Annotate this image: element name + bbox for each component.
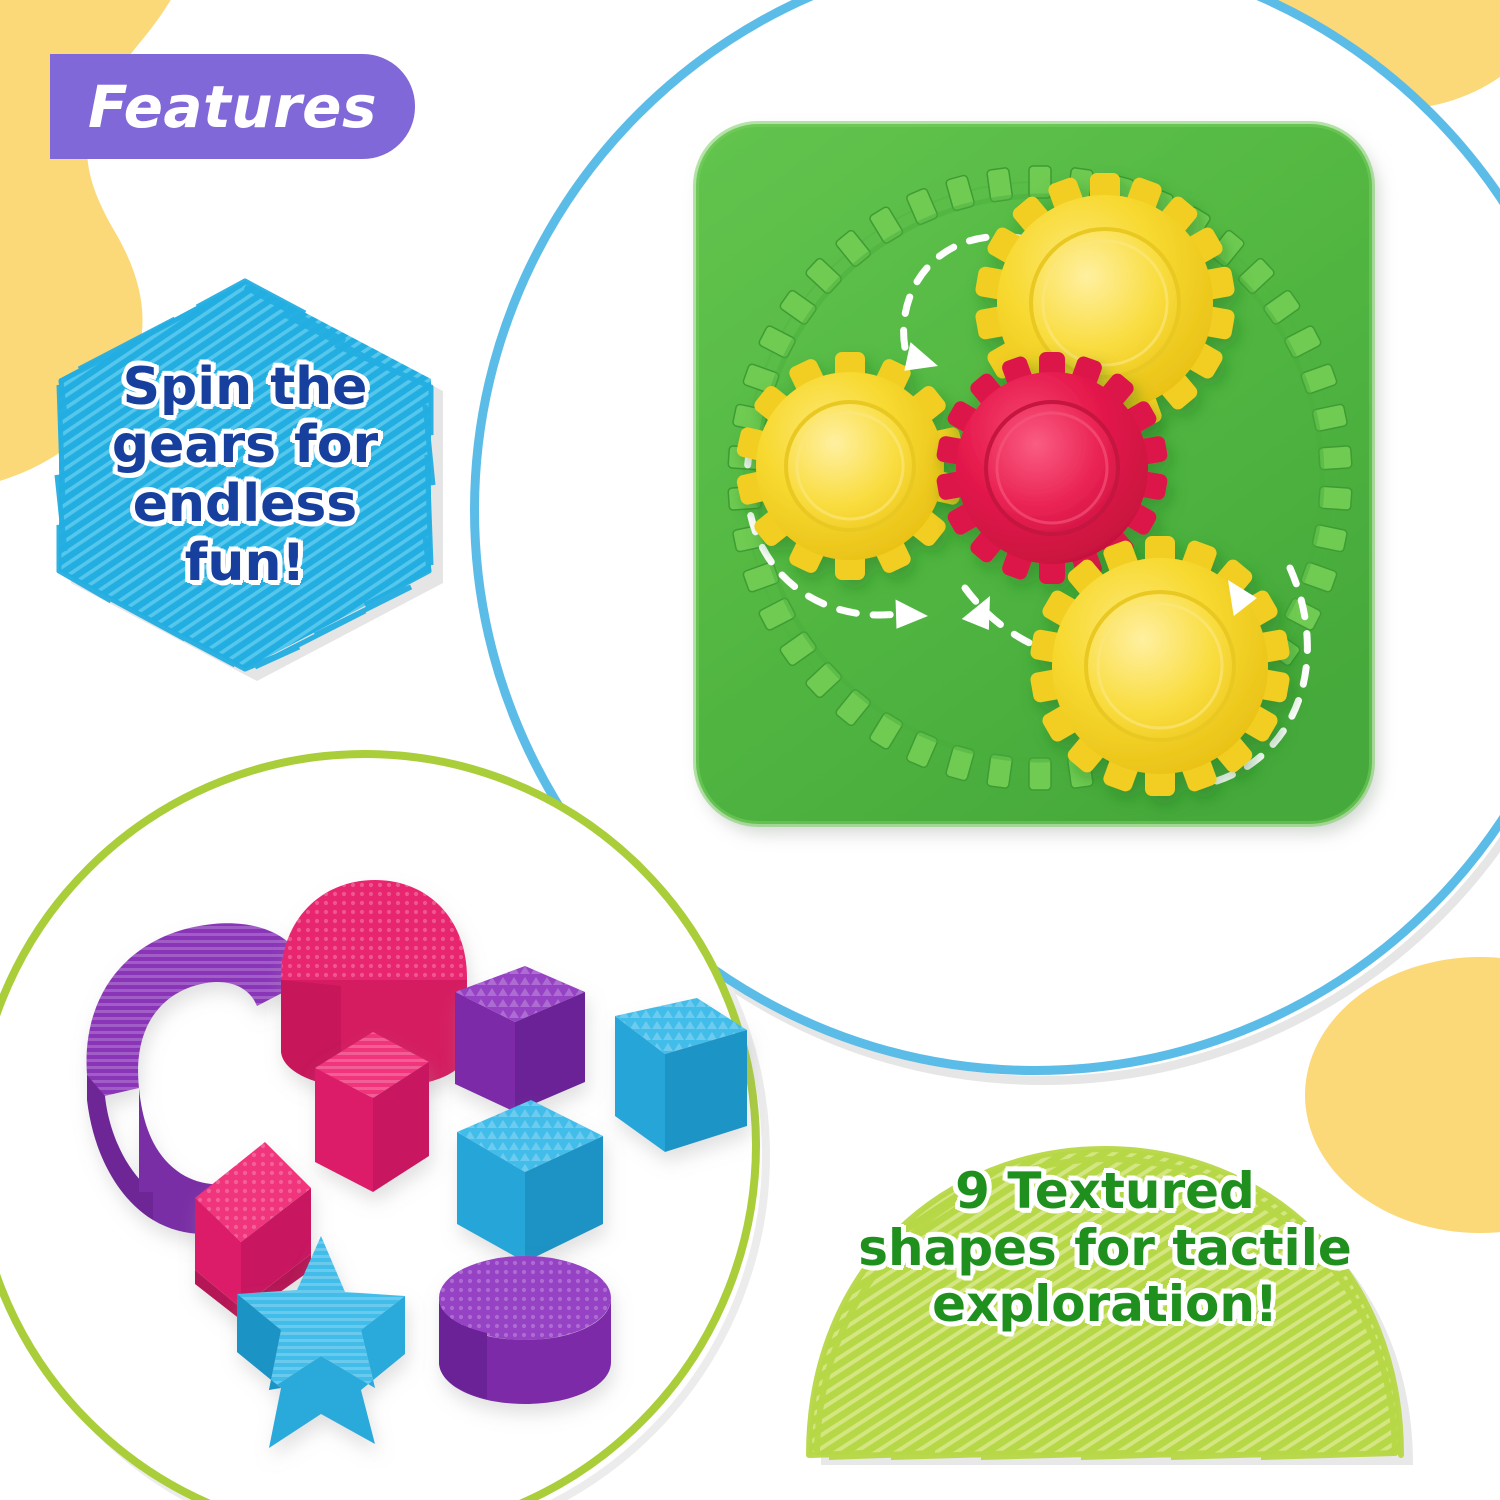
- gear-yellow-left: [736, 352, 965, 580]
- shape-purple-cylinder: [439, 1256, 611, 1404]
- features-title: Features: [88, 73, 377, 141]
- badge-spin-gears: Spin the gears for endless fun!: [45, 275, 445, 675]
- badge-textured-shapes-line-3: exploration!: [932, 1276, 1278, 1333]
- badge-textured-shapes: 9 Textured shapes for tactile exploratio…: [795, 1135, 1415, 1465]
- shape-purple-cube: [455, 966, 585, 1112]
- features-banner: Features: [50, 54, 415, 159]
- shape-blue-rectangle: [615, 998, 747, 1152]
- badge-spin-gears-text: Spin the gears for endless fun!: [45, 275, 445, 675]
- gear-plate-photo: [690, 118, 1390, 848]
- badge-textured-shapes-line-2: shapes for tactile: [858, 1220, 1352, 1277]
- feature-highlight-page: Features: [0, 0, 1500, 1500]
- textured-shapes-photo: [25, 800, 755, 1500]
- badge-spin-gears-line-4: fun!: [185, 534, 305, 593]
- shape-blue-cube: [457, 1100, 603, 1262]
- badge-textured-shapes-line-1: 9 Textured: [955, 1163, 1255, 1220]
- badge-textured-shapes-text: 9 Textured shapes for tactile exploratio…: [795, 1135, 1415, 1465]
- badge-spin-gears-line-3: endless: [133, 475, 358, 534]
- badge-spin-gears-line-2: gears for: [112, 416, 378, 475]
- gear-yellow-bottom: [1029, 536, 1290, 796]
- badge-spin-gears-line-1: Spin the: [123, 358, 368, 417]
